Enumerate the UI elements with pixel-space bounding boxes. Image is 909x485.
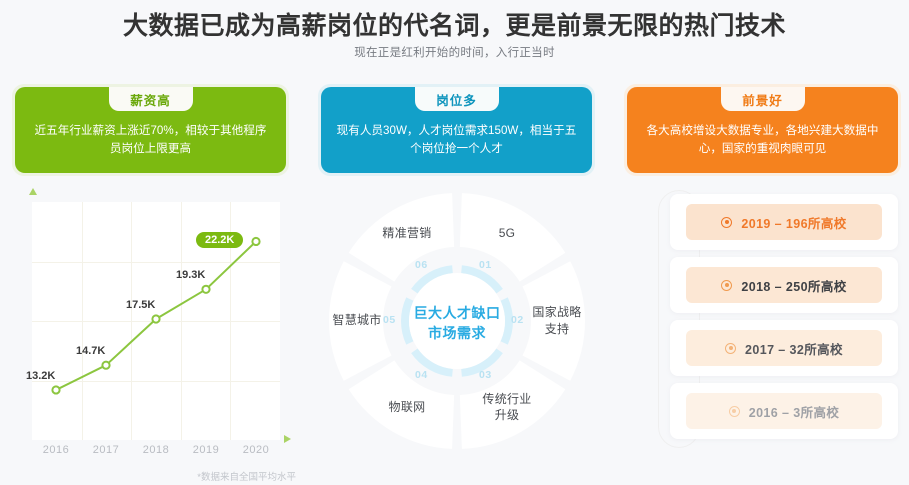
chart-x-tick-label: 2017 [81, 444, 131, 456]
card-surface: 岗位多 现有人员30W，人才岗位需求150W，相当于五个岗位抢一个人才 [321, 87, 592, 173]
chart-line-svg [8, 186, 308, 456]
donut-outer-label[interactable]: 传统行业 升级 [469, 391, 545, 425]
timeline-bullet-icon [721, 280, 732, 291]
timeline-pill: 2016 – 3所高校 [686, 393, 882, 429]
donut-segment-number: 04 [415, 369, 428, 381]
timeline-card[interactable]: 2018 – 250所高校 [670, 257, 898, 313]
highlight-card-prospect[interactable]: 前景好 各大高校增设大数据专业，各地兴建大数据中心，国家的重视肉眼可见 [624, 84, 901, 176]
donut-outer-label[interactable]: 精准营销 [369, 225, 445, 242]
highlight-card-jobs[interactable]: 岗位多 现有人员30W，人才岗位需求150W，相当于五个岗位抢一个人才 [318, 84, 595, 176]
chart-x-tick-label: 2016 [31, 444, 81, 456]
card-badge-label: 岗位多 [415, 87, 499, 111]
infographic-page: 大数据已成为高薪岗位的代名词，更是前景无限的热门技术 现在正是红利开始的时间，入… [0, 0, 909, 485]
timeline-bullet-icon [729, 406, 740, 417]
card-body-text: 各大高校增设大数据专业，各地兴建大数据中心，国家的重视肉眼可见 [627, 122, 898, 173]
chart-point-label: 13.2K [26, 370, 55, 382]
timeline-card[interactable]: 2019 – 196所高校 [670, 194, 898, 250]
card-badge-label: 前景好 [721, 87, 805, 111]
chart-data-point[interactable] [252, 238, 259, 245]
chart-data-point[interactable] [102, 362, 109, 369]
timeline-label: 2018 – 250所高校 [741, 276, 846, 295]
donut-outer-label[interactable]: 物联网 [369, 399, 445, 416]
timeline-label: 2019 – 196所高校 [741, 213, 846, 232]
timeline-card[interactable]: 2017 – 32所高校 [670, 320, 898, 376]
timeline-bullet-icon [725, 343, 736, 354]
timeline-pill: 2019 – 196所高校 [686, 204, 882, 240]
donut-outer-label[interactable]: 智慧城市 [319, 312, 395, 329]
donut-segment-number: 01 [479, 259, 492, 271]
donut-segment-number: 06 [415, 259, 428, 271]
timeline-bullet-icon [721, 217, 732, 228]
card-body-text: 现有人员30W，人才岗位需求150W，相当于五个岗位抢一个人才 [321, 122, 592, 173]
card-surface: 前景好 各大高校增设大数据专业，各地兴建大数据中心，国家的重视肉眼可见 [627, 87, 898, 173]
donut-outer-label[interactable]: 国家战略 支持 [519, 304, 595, 338]
timeline-pill: 2017 – 32所高校 [686, 330, 882, 366]
chart-data-point[interactable] [152, 315, 159, 322]
chart-x-tick-label: 2020 [231, 444, 281, 456]
card-badge-label: 薪资高 [109, 87, 193, 111]
chart-point-label: 17.5K [126, 299, 155, 311]
timeline-label: 2016 – 3所高校 [749, 402, 840, 421]
highlight-cards: 薪资高 近五年行业薪资上涨近70%，相较于其他程序员岗位上限更高 岗位多 现有人… [0, 84, 909, 180]
timeline-card[interactable]: 2016 – 3所高校 [670, 383, 898, 439]
donut-core [409, 273, 505, 369]
university-timeline: 2019 – 196所高校2018 – 250所高校2017 – 32所高校20… [658, 190, 903, 450]
page-subtitle: 现在正是红利开始的时间，入行正当时 [0, 44, 909, 60]
chart-x-tick-label: 2019 [181, 444, 231, 456]
donut-segment-number: 03 [479, 369, 492, 381]
talent-gap-donut: 010203040506 5G国家战略 支持传统行业 升级物联网智慧城市精准营销… [312, 188, 602, 458]
chart-x-tick-label: 2018 [131, 444, 181, 456]
highlight-card-salary[interactable]: 薪资高 近五年行业薪资上涨近70%，相较于其他程序员岗位上限更高 [12, 84, 289, 176]
card-surface: 薪资高 近五年行业薪资上涨近70%，相较于其他程序员岗位上限更高 [15, 87, 286, 173]
chart-point-label: 22.2K [196, 232, 243, 248]
card-body-text: 近五年行业薪资上涨近70%，相较于其他程序员岗位上限更高 [15, 122, 286, 173]
chart-point-label: 19.3K [176, 269, 205, 281]
chart-data-point[interactable] [52, 386, 59, 393]
page-title: 大数据已成为高薪岗位的代名词，更是前景无限的热门技术 [0, 6, 909, 42]
timeline-pill: 2018 – 250所高校 [686, 267, 882, 303]
timeline-label: 2017 – 32所高校 [745, 339, 843, 358]
salary-trend-chart: 13.2K14.7K17.5K19.3K22.2K 20162017201820… [8, 186, 308, 485]
donut-outer-label[interactable]: 5G [469, 225, 545, 242]
chart-point-label: 14.7K [76, 345, 105, 357]
chart-data-point[interactable] [202, 286, 209, 293]
chart-footnote: *数据来自全国平均水平 [8, 469, 308, 483]
